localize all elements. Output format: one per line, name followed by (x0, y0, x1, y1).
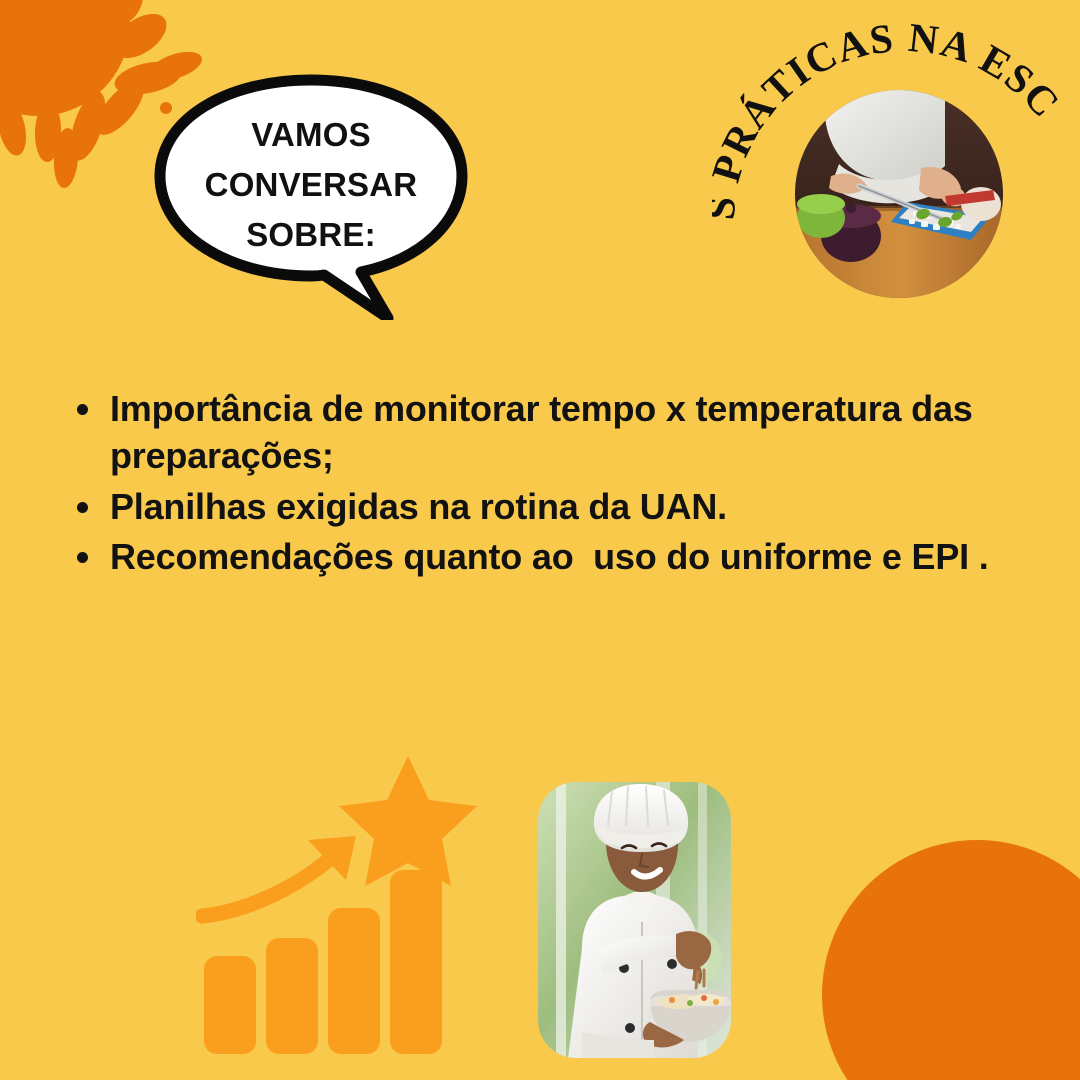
speech-bubble-line-1: VAMOS (188, 110, 434, 160)
growth-bar-1 (204, 956, 256, 1054)
growth-star (339, 756, 477, 886)
chef-photo (538, 782, 731, 1058)
topic-list: Importância de monitorar tempo x tempera… (68, 386, 1028, 585)
poster-canvas: VAMOS CONVERSAR SOBRE: BOAS PRÁTICAS NA … (0, 0, 1080, 1080)
topic-list-item: Planilhas exigidas na rotina da UAN. (68, 484, 1028, 531)
speech-bubble-text: VAMOS CONVERSAR SOBRE: (188, 110, 434, 260)
circle-decoration (822, 840, 1080, 1080)
topic-list-item: Importância de monitorar tempo x tempera… (68, 386, 1028, 480)
speech-bubble-line-2: CONVERSAR (188, 160, 434, 210)
growth-arrow-curve (202, 848, 342, 916)
topic-list-item: Recomendações quanto ao uso do uniforme … (68, 534, 1028, 581)
growth-bar-4 (390, 870, 442, 1054)
growth-bar-3 (328, 908, 380, 1054)
speech-bubble: VAMOS CONVERSAR SOBRE: (152, 72, 470, 320)
growth-chart-icon (196, 752, 526, 1078)
growth-bar-2 (266, 938, 318, 1054)
badge-boas-praticas: BOAS PRÁTICAS NA ESCOLA (712, 12, 1072, 332)
speech-bubble-line-3: SOBRE: (188, 210, 434, 260)
badge-photo-chopping (795, 90, 1003, 298)
